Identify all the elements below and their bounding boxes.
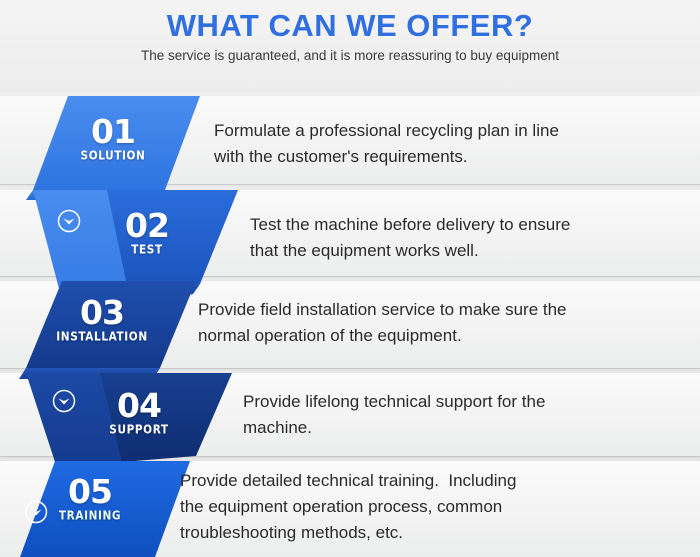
step-text-line: the equipment operation process, common bbox=[180, 494, 516, 520]
step-text-line: that the equipment works well. bbox=[250, 238, 570, 264]
step-text-4: Provide lifelong technical support for t… bbox=[243, 389, 545, 441]
step-number-5: 05 bbox=[55, 472, 125, 511]
step-text-5: Provide detailed technical training. Inc… bbox=[180, 468, 516, 546]
step-text-line: Provide field installation service to ma… bbox=[198, 297, 567, 323]
chevron-down-circle-icon[interactable] bbox=[24, 500, 48, 524]
chevron-down-circle-icon[interactable] bbox=[52, 389, 76, 413]
step-label-4: SUPPORT bbox=[89, 423, 189, 437]
step-text-line: machine. bbox=[243, 415, 545, 441]
page-subtitle: The service is guaranteed, and it is mor… bbox=[0, 48, 700, 63]
step-number-1: 01 bbox=[78, 112, 148, 151]
step-text-line: troubleshooting methods, etc. bbox=[180, 520, 516, 546]
step-text-line: normal operation of the equipment. bbox=[198, 323, 567, 349]
page-title: WHAT CAN WE OFFER? bbox=[0, 8, 700, 44]
row-divider bbox=[0, 184, 700, 185]
step-label-5: TRAINING bbox=[47, 509, 133, 523]
row-divider bbox=[0, 276, 700, 277]
step-number-3: 03 bbox=[67, 293, 137, 332]
header: WHAT CAN WE OFFER? The service is guaran… bbox=[0, 0, 700, 92]
step-number-2: 02 bbox=[112, 206, 182, 245]
step-text-line: with the customer's requirements. bbox=[214, 144, 559, 170]
row-divider bbox=[0, 456, 700, 457]
step-text-3: Provide field installation service to ma… bbox=[198, 297, 567, 349]
chevron-down-circle-icon[interactable] bbox=[57, 209, 81, 233]
row-divider bbox=[0, 368, 700, 369]
step-label-2: TEST bbox=[97, 243, 197, 257]
step-text-line: Provide detailed technical training. Inc… bbox=[180, 468, 516, 494]
step-label-3: INSTALLATION bbox=[41, 330, 163, 344]
step-number-4: 04 bbox=[104, 386, 174, 425]
step-text-line: Provide lifelong technical support for t… bbox=[243, 389, 545, 415]
step-text-2: Test the machine before delivery to ensu… bbox=[250, 212, 570, 264]
step-label-1: SOLUTION bbox=[63, 149, 163, 163]
step-text-1: Formulate a professional recycling plan … bbox=[214, 118, 559, 170]
infographic-canvas: WHAT CAN WE OFFER? The service is guaran… bbox=[0, 0, 700, 557]
step-text-line: Formulate a professional recycling plan … bbox=[214, 118, 559, 144]
step-text-line: Test the machine before delivery to ensu… bbox=[250, 212, 570, 238]
